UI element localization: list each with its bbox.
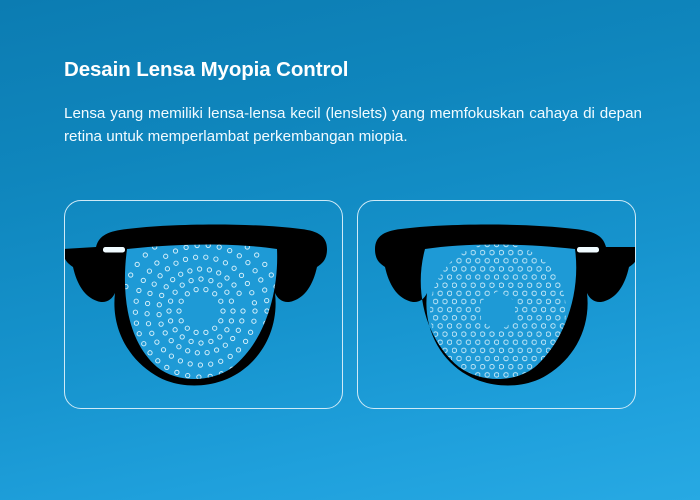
illustration-cards [64, 200, 636, 409]
slide-canvas: Desain Lensa Myopia Control Lensa yang m… [0, 0, 700, 500]
glasses-concentric-illustration [65, 201, 343, 409]
card-honeycomb-lenslet [357, 200, 636, 409]
card-concentric-ring-lenslet [64, 200, 343, 409]
page-title: Desain Lensa Myopia Control [64, 56, 642, 84]
hinge-mark-icon [577, 247, 599, 253]
body-paragraph: Lensa yang memiliki lensa-lensa kecil (l… [64, 84, 642, 148]
text-block: Desain Lensa Myopia Control Lensa yang m… [64, 56, 642, 148]
hinge-mark-icon [103, 247, 125, 253]
glasses-honeycomb-illustration [358, 201, 636, 409]
